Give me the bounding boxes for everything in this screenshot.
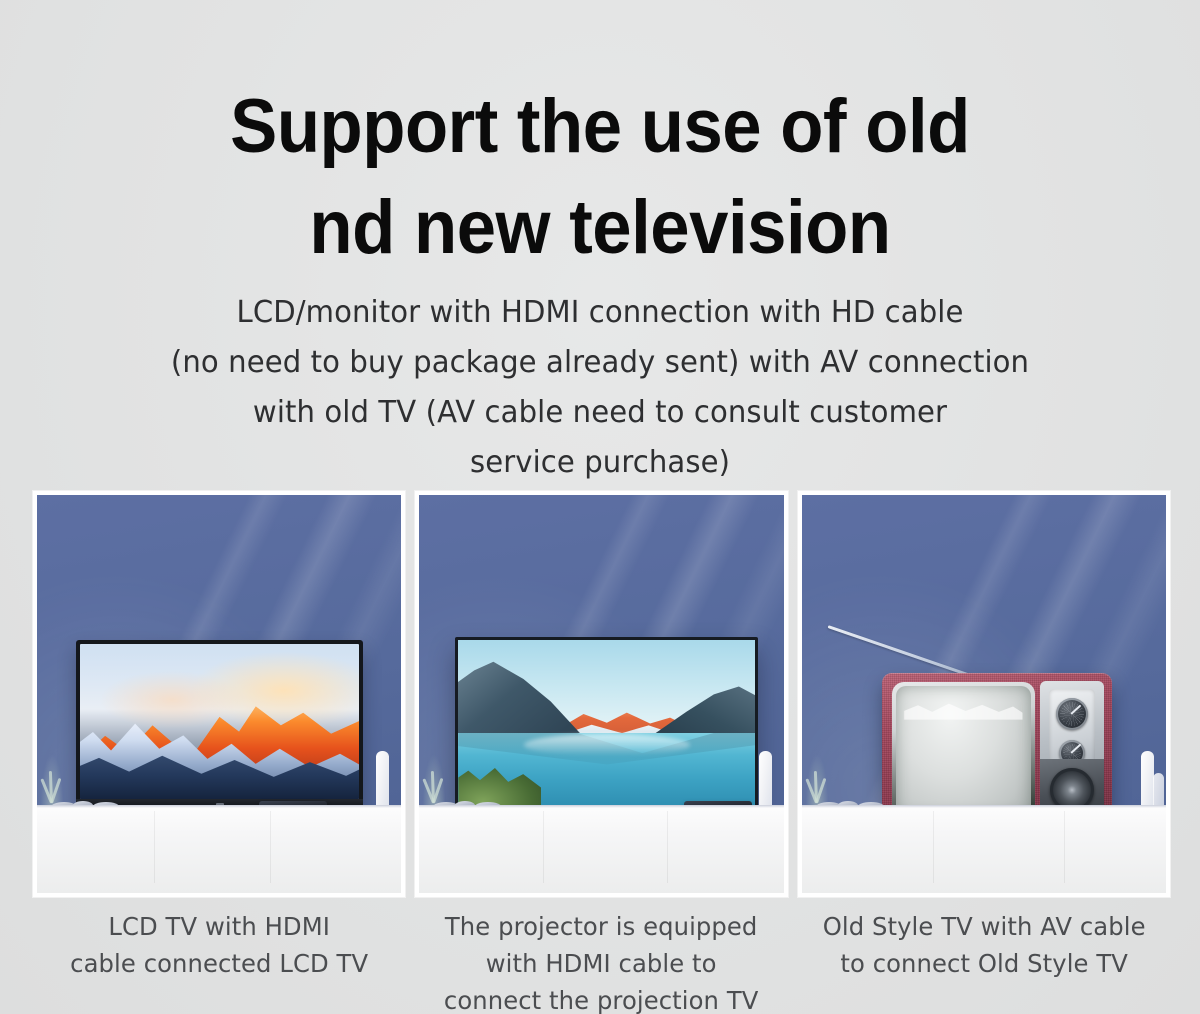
caption-line: LCD TV with HDMI (42, 908, 395, 945)
retro-screen-bezel (892, 682, 1035, 820)
console-table (419, 805, 783, 893)
retro-tv-screen (896, 686, 1031, 816)
lake-mountain-wallpaper (458, 640, 755, 806)
page-subtitle-line-3: with old TV (AV cable need to consult cu… (18, 388, 1182, 438)
caption-line: with HDMI cable to (425, 945, 778, 982)
page-subtitle-line-2: (no need to buy package already sent) wi… (18, 338, 1182, 388)
page-title-line-1: Support the use of old (42, 76, 1158, 177)
caption-line: Old Style TV with AV cable (807, 908, 1160, 945)
sunset-mountain-wallpaper (80, 644, 359, 799)
lcd-tv-device (76, 640, 363, 810)
old-style-tv-scene (802, 495, 1166, 893)
page-subtitle-line-1: LCD/monitor with HDMI connection with HD… (18, 288, 1182, 338)
caption-line: The projector is equipped (425, 908, 778, 945)
product-image-gallery (33, 491, 1170, 897)
wall-mounted-tv-screen (458, 640, 755, 806)
caption-projection-tv: The projector is equipped with HDMI cabl… (421, 908, 782, 1014)
page-title-line-2: nd new television (42, 177, 1158, 278)
promo-banner: Support the use of old nd new television… (0, 0, 1200, 1014)
page-subtitle-line-4: service purchase) (18, 438, 1182, 488)
wall-mounted-tv-device (455, 637, 758, 809)
caption-old-style-tv: Old Style TV with AV cable to connect Ol… (803, 908, 1164, 1014)
panel-lcd-tv (33, 491, 405, 897)
projection-tv-scene (419, 495, 783, 893)
retro-control-panel (1040, 681, 1104, 821)
lcd-tv-scene (37, 495, 401, 893)
panel-projection-tv (415, 491, 787, 897)
decor-candle (376, 751, 389, 807)
caption-line: cable connected LCD TV (42, 945, 395, 982)
panel-captions: LCD TV with HDMI cable connected LCD TV … (33, 908, 1170, 1014)
page-title: Support the use of old nd new television (42, 76, 1158, 278)
caption-lcd-tv: LCD TV with HDMI cable connected LCD TV (39, 908, 400, 1014)
lcd-tv-screen (80, 644, 359, 799)
decor-candle (759, 751, 772, 807)
decor-candle-small (1153, 773, 1164, 807)
page-subtitle: LCD/monitor with HDMI connection with HD… (18, 288, 1182, 488)
console-table (37, 805, 401, 893)
console-table (802, 805, 1166, 893)
caption-line: connect the projection TV (425, 982, 778, 1014)
panel-old-style-tv (798, 491, 1170, 897)
caption-line: to connect Old Style TV (807, 945, 1160, 982)
channel-dial[interactable] (1056, 698, 1088, 730)
